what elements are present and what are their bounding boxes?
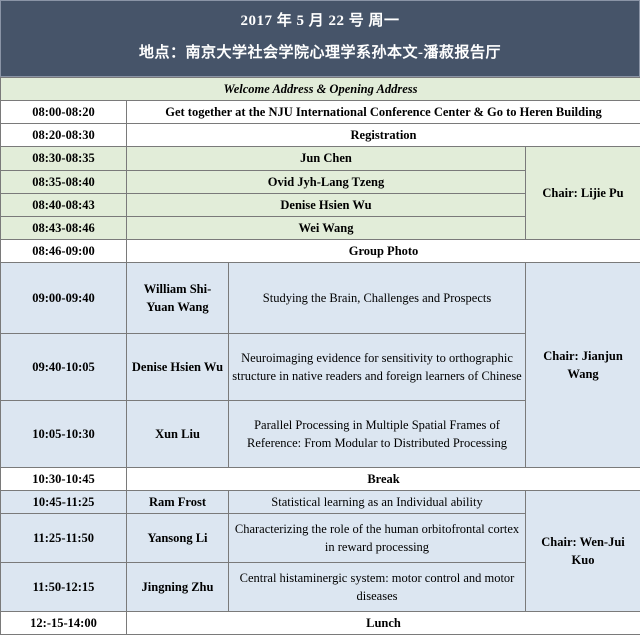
- schedule-table: Welcome Address & Opening Address 08:00-…: [0, 77, 640, 635]
- table-row: Welcome Address & Opening Address: [1, 78, 640, 101]
- row-time: 08:20-08:30: [1, 124, 127, 147]
- row-speaker-name: Jun Chen: [127, 147, 526, 170]
- row-time: 11:50-12:15: [1, 563, 127, 612]
- table-row: 08:30-08:35 Jun Chen Chair: Lijie Pu: [1, 147, 640, 170]
- row-activity-lunch: Lunch: [127, 612, 640, 635]
- row-time: 10:05-10:30: [1, 401, 127, 468]
- row-speaker-name: Jingning Zhu: [127, 563, 229, 612]
- schedule-venue: 地点：南京大学社会学院心理学系孙本文-潘菽报告厅: [1, 35, 639, 69]
- row-chair-morning-session-2: Chair: Wen-Jui Kuo: [526, 491, 640, 612]
- row-talk-title: Central histaminergic system: motor cont…: [229, 563, 526, 612]
- row-time: 08:30-08:35: [1, 147, 127, 170]
- row-speaker-name: Xun Liu: [127, 401, 229, 468]
- row-time: 12:-15-14:00: [1, 612, 127, 635]
- table-row: 10:30-10:45 Break: [1, 468, 640, 491]
- table-row: 08:20-08:30 Registration: [1, 124, 640, 147]
- row-activity-group-photo: Group Photo: [127, 239, 640, 262]
- row-speaker-name: Denise Hsien Wu: [127, 334, 229, 401]
- table-row: 10:45-11:25 Ram Frost Statistical learni…: [1, 491, 640, 514]
- row-time: 09:40-10:05: [1, 334, 127, 401]
- row-speaker-name: Denise Hsien Wu: [127, 193, 526, 216]
- table-row: 08:46-09:00 Group Photo: [1, 239, 640, 262]
- row-speaker-name: Ovid Jyh-Lang Tzeng: [127, 170, 526, 193]
- row-time: 10:45-11:25: [1, 491, 127, 514]
- row-chair-opening: Chair: Lijie Pu: [526, 147, 640, 240]
- row-chair-morning-session-1: Chair: Jianjun Wang: [526, 263, 640, 468]
- row-talk-title: Statistical learning as an Individual ab…: [229, 491, 526, 514]
- row-speaker-name: Ram Frost: [127, 491, 229, 514]
- row-time: 11:25-11:50: [1, 514, 127, 563]
- row-talk-title: Parallel Processing in Multiple Spatial …: [229, 401, 526, 468]
- schedule-sheet: 2017 年 5 月 22 号 周一 地点：南京大学社会学院心理学系孙本文-潘菽…: [0, 0, 640, 603]
- row-time: 09:00-09:40: [1, 263, 127, 334]
- row-activity-registration: Registration: [127, 124, 640, 147]
- row-activity-break: Break: [127, 468, 640, 491]
- table-row: 09:00-09:40 William Shi-Yuan Wang Studyi…: [1, 263, 640, 334]
- schedule-date: 2017 年 5 月 22 号 周一: [1, 7, 639, 35]
- row-speaker-name: Yansong Li: [127, 514, 229, 563]
- row-talk-title: Neuroimaging evidence for sensitivity to…: [229, 334, 526, 401]
- row-talk-title: Characterizing the role of the human orb…: [229, 514, 526, 563]
- row-time: 10:30-10:45: [1, 468, 127, 491]
- row-time: 08:35-08:40: [1, 170, 127, 193]
- row-speaker-name: Wei Wang: [127, 216, 526, 239]
- row-time: 08:00-08:20: [1, 101, 127, 124]
- row-time: 08:46-09:00: [1, 239, 127, 262]
- row-talk-title: Studying the Brain, Challenges and Prosp…: [229, 263, 526, 334]
- row-speaker-name: William Shi-Yuan Wang: [127, 263, 229, 334]
- table-row: 12:-15-14:00 Lunch: [1, 612, 640, 635]
- row-time: 08:43-08:46: [1, 216, 127, 239]
- table-row: 08:00-08:20 Get together at the NJU Inte…: [1, 101, 640, 124]
- session-banner-opening: Welcome Address & Opening Address: [1, 78, 640, 101]
- row-time: 08:40-08:43: [1, 193, 127, 216]
- row-activity-get-together: Get together at the NJU International Co…: [127, 101, 640, 124]
- schedule-header-banner: 2017 年 5 月 22 号 周一 地点：南京大学社会学院心理学系孙本文-潘菽…: [0, 0, 640, 77]
